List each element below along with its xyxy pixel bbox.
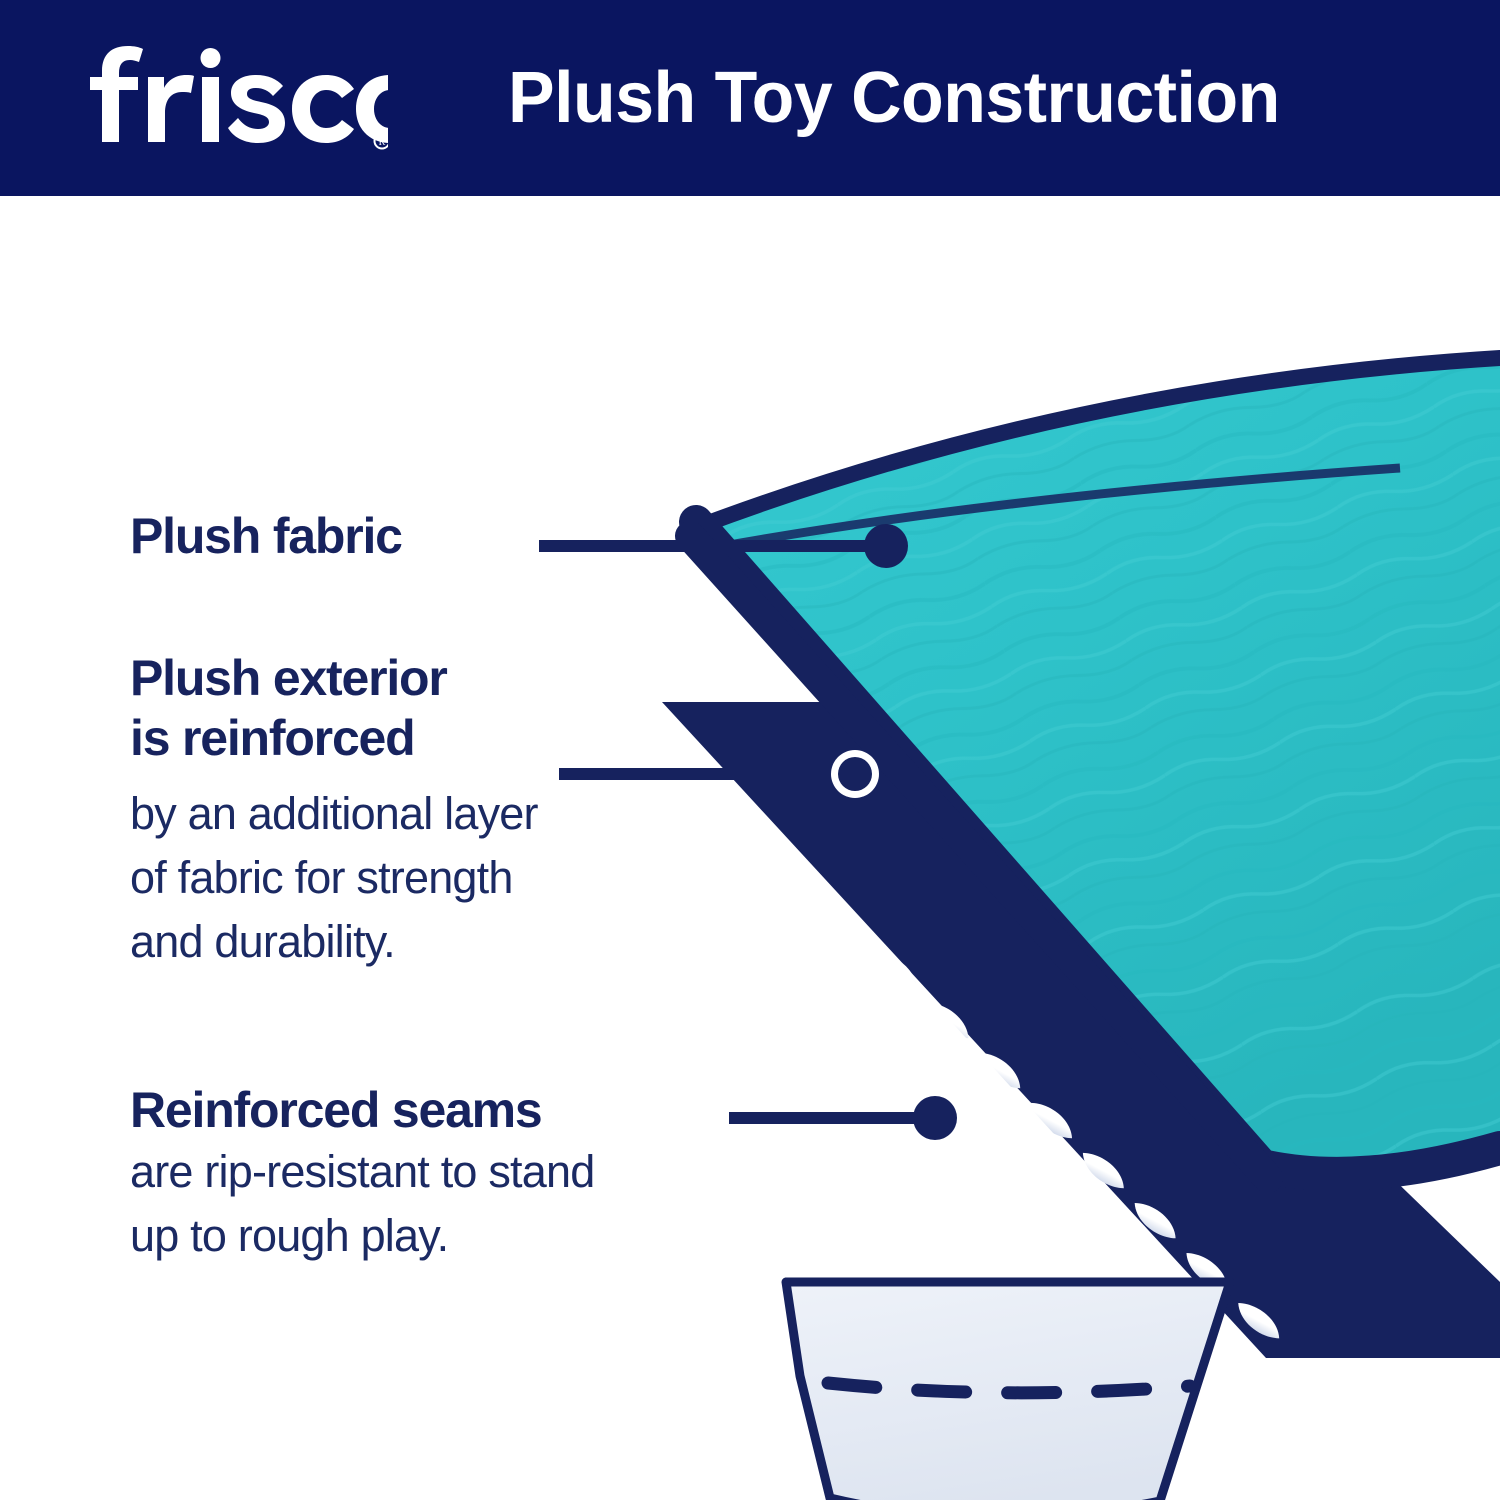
callout-reinforced-seams-heading: Reinforced seams (130, 1080, 594, 1140)
callout-reinforced-seams: Reinforced seams are rip-resistant to st… (130, 1080, 594, 1268)
reinforced-seam-flap (786, 1282, 1230, 1500)
svg-text:R: R (379, 137, 386, 148)
header-bar: R Plush Toy Construction (0, 0, 1500, 196)
infographic-root: R Plush Toy Construction (0, 0, 1500, 1500)
page-title: Plush Toy Construction (508, 48, 1280, 148)
frisco-wordmark-icon: R (88, 44, 388, 152)
callout-plush-exterior-body-line-3: and durability. (130, 910, 538, 974)
callout-reinforced-seams-body-line-1: are rip-resistant to stand (130, 1140, 594, 1204)
callout-plush-exterior-heading-line-2: is reinforced (130, 708, 538, 768)
callout-plush-exterior-body-line-2: of fabric for strength (130, 846, 538, 910)
callout-plush-fabric-heading: Plush fabric (130, 506, 402, 566)
callout-plush-exterior: Plush exterior is reinforced by an addit… (130, 648, 538, 974)
callout-reinforced-seams-body-line-2: up to rough play. (130, 1204, 594, 1268)
callout-plush-exterior-heading-line-1: Plush exterior (130, 648, 538, 708)
callout-plush-exterior-body-line-1: by an additional layer (130, 782, 538, 846)
callout-plush-fabric: Plush fabric (130, 506, 402, 566)
